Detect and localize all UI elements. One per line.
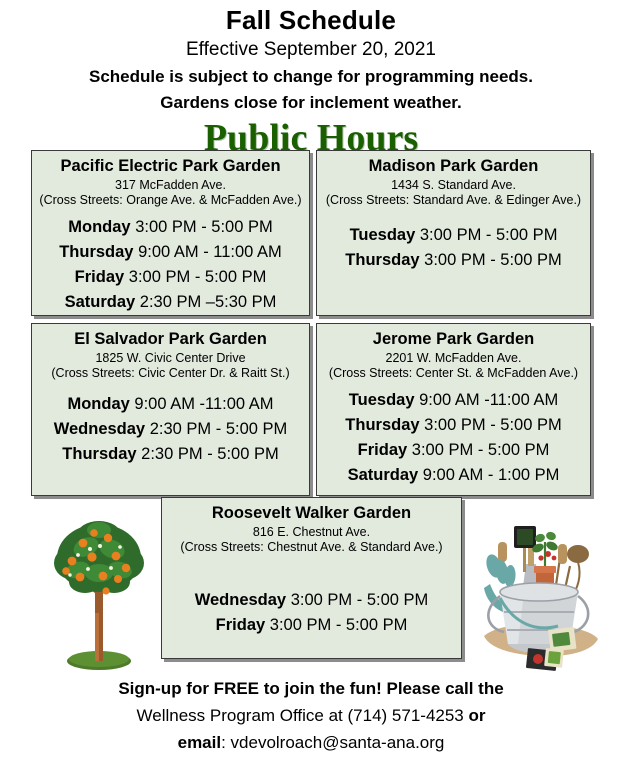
hours-time: 2:30 PM - 5:00 PM <box>141 445 279 463</box>
hours-row: Saturday 2:30 PM –5:30 PM <box>38 290 303 315</box>
garden-bucket-tools-icon <box>474 508 606 673</box>
hours-day: Thursday <box>345 416 419 434</box>
garden-card-pacific-electric-park: Pacific Electric Park Garden 317 McFadde… <box>31 150 310 316</box>
footer-signup-text: Sign-up for FREE to join the fun! Please… <box>118 679 503 698</box>
garden-name: El Salvador Park Garden <box>38 330 303 350</box>
garden-cross-streets: (Cross Streets: Chestnut Ave. & Standard… <box>168 540 455 556</box>
hours-day: Friday <box>75 268 125 286</box>
hours-day: Tuesday <box>350 226 416 244</box>
effective-date: Effective September 20, 2021 <box>0 38 622 63</box>
hours-time: 2:30 PM –5:30 PM <box>140 293 277 311</box>
garden-cards-grid: Pacific Electric Park Garden 317 McFadde… <box>31 150 591 503</box>
hours-day: Tuesday <box>349 391 415 409</box>
schedule-note-line-2: Gardens close for inclement weather. <box>0 92 622 115</box>
garden-name: Jerome Park Garden <box>323 330 584 350</box>
garden-address: 317 McFadden Ave. <box>38 178 303 194</box>
garden-hours-list: Wednesday 3:00 PM - 5:00 PM Friday 3:00 … <box>168 588 455 638</box>
hours-row: Tuesday 9:00 AM -11:00 AM <box>323 388 584 413</box>
footer-phone-line: Wellness Program Office at (714) 571-425… <box>0 703 622 730</box>
garden-cross-streets: (Cross Streets: Orange Ave. & McFadden A… <box>38 193 303 209</box>
hours-time: 3:00 PM - 5:00 PM <box>135 218 273 236</box>
hours-time: 3:00 PM - 5:00 PM <box>291 591 429 609</box>
hours-day: Thursday <box>62 445 136 463</box>
garden-hours-list: Tuesday 9:00 AM -11:00 AM Thursday 3:00 … <box>323 388 584 488</box>
garden-address: 2201 W. McFadden Ave. <box>323 351 584 367</box>
hours-day: Saturday <box>65 293 136 311</box>
garden-cross-streets: (Cross Streets: Standard Ave. & Edinger … <box>323 193 584 209</box>
hours-time: 9:00 AM -11:00 AM <box>419 391 558 409</box>
hours-row: Thursday 9:00 AM - 11:00 AM <box>38 240 303 265</box>
document-header: Fall Schedule Effective September 20, 20… <box>0 0 622 157</box>
hours-time: 9:00 AM - 11:00 AM <box>138 243 282 261</box>
hours-time: 3:00 PM - 5:00 PM <box>129 268 267 286</box>
garden-address: 816 E. Chestnut Ave. <box>168 525 455 541</box>
garden-row-2: El Salvador Park Garden 1825 W. Civic Ce… <box>31 323 591 496</box>
hours-day: Saturday <box>348 466 419 484</box>
garden-card-madison-park: Madison Park Garden 1434 S. Standard Ave… <box>316 150 591 316</box>
footer-email-label: email <box>178 733 221 752</box>
footer-email-line: email: vdevolroach@santa-ana.org <box>0 730 622 757</box>
hours-day: Wednesday <box>195 591 286 609</box>
footer-office-phone: Wellness Program Office at (714) 571-425… <box>137 706 469 725</box>
hours-row: Thursday 3:00 PM - 5:00 PM <box>323 248 584 273</box>
garden-name: Roosevelt Walker Garden <box>168 504 455 524</box>
garden-row-1: Pacific Electric Park Garden 317 McFadde… <box>31 150 591 316</box>
footer-signup-line: Sign-up for FREE to join the fun! Please… <box>0 676 622 703</box>
hours-day: Friday <box>358 441 408 459</box>
hours-time: 3:00 PM - 5:00 PM <box>412 441 550 459</box>
orange-tree-icon <box>48 513 150 671</box>
hours-row: Friday 3:00 PM - 5:00 PM <box>168 613 455 638</box>
garden-card-jerome-park: Jerome Park Garden 2201 W. McFadden Ave.… <box>316 323 591 496</box>
hours-row: Wednesday 3:00 PM - 5:00 PM <box>168 588 455 613</box>
hours-day: Thursday <box>59 243 133 261</box>
hours-row: Friday 3:00 PM - 5:00 PM <box>323 438 584 463</box>
hours-time: 9:00 AM -11:00 AM <box>134 395 273 413</box>
footer-or-text: or <box>468 706 485 725</box>
schedule-note-line-1: Schedule is subject to change for progra… <box>0 66 622 89</box>
footer-email-address: : vdevolroach@santa-ana.org <box>221 733 444 752</box>
hours-row: Tuesday 3:00 PM - 5:00 PM <box>323 223 584 248</box>
garden-hours-list: Monday 3:00 PM - 5:00 PM Thursday 9:00 A… <box>38 215 303 315</box>
garden-card-roosevelt-walker: Roosevelt Walker Garden 816 E. Chestnut … <box>161 497 462 659</box>
garden-address: 1434 S. Standard Ave. <box>323 178 584 194</box>
garden-name: Madison Park Garden <box>323 157 584 177</box>
hours-day: Monday <box>68 218 130 236</box>
hours-row: Saturday 9:00 AM - 1:00 PM <box>323 463 584 488</box>
garden-cross-streets: (Cross Streets: Center St. & McFadden Av… <box>323 366 584 382</box>
hours-row: Monday 3:00 PM - 5:00 PM <box>38 215 303 240</box>
garden-name: Pacific Electric Park Garden <box>38 157 303 177</box>
hours-row: Friday 3:00 PM - 5:00 PM <box>38 265 303 290</box>
garden-hours-list: Monday 9:00 AM -11:00 AM Wednesday 2:30 … <box>38 392 303 467</box>
hours-day: Friday <box>216 616 266 634</box>
hours-row: Thursday 3:00 PM - 5:00 PM <box>323 413 584 438</box>
hours-time: 9:00 AM - 1:00 PM <box>423 466 560 484</box>
garden-address: 1825 W. Civic Center Drive <box>38 351 303 367</box>
garden-cross-streets: (Cross Streets: Civic Center Dr. & Raitt… <box>38 366 303 382</box>
garden-hours-list: Tuesday 3:00 PM - 5:00 PM Thursday 3:00 … <box>323 223 584 273</box>
document-footer: Sign-up for FREE to join the fun! Please… <box>0 676 622 757</box>
page-title: Fall Schedule <box>0 6 622 35</box>
hours-row: Monday 9:00 AM -11:00 AM <box>38 392 303 417</box>
garden-card-el-salvador-park: El Salvador Park Garden 1825 W. Civic Ce… <box>31 323 310 496</box>
hours-day: Monday <box>67 395 129 413</box>
hours-time: 3:00 PM - 5:00 PM <box>424 251 562 269</box>
hours-time: 2:30 PM - 5:00 PM <box>150 420 288 438</box>
hours-time: 3:00 PM - 5:00 PM <box>420 226 558 244</box>
hours-time: 3:00 PM - 5:00 PM <box>270 616 408 634</box>
hours-row: Thursday 2:30 PM - 5:00 PM <box>38 442 303 467</box>
hours-time: 3:00 PM - 5:00 PM <box>424 416 562 434</box>
hours-day: Thursday <box>345 251 419 269</box>
hours-row: Wednesday 2:30 PM - 5:00 PM <box>38 417 303 442</box>
hours-day: Wednesday <box>54 420 145 438</box>
